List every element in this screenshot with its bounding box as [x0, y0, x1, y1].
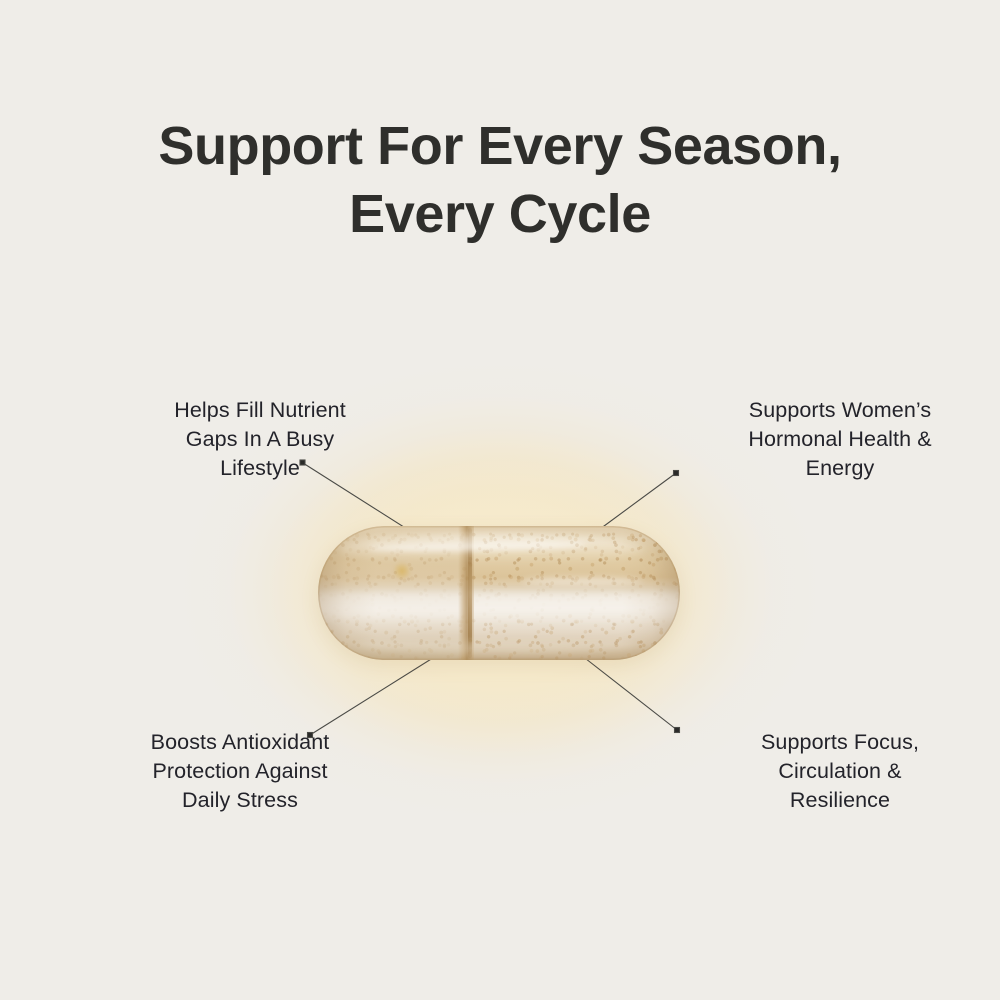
callout-top-left-line-1: Helps Fill Nutrient [60, 396, 460, 425]
callout-bottom-left-line-1: Boosts Antioxidant [40, 728, 440, 757]
callout-top-left: Helps Fill Nutrient Gaps In A Busy Lifes… [60, 396, 460, 482]
leader-line-bottom-right [581, 655, 677, 730]
leader-lines-group [0, 0, 1000, 1000]
callout-bottom-left: Boosts Antioxidant Protection Against Da… [40, 728, 440, 814]
callout-bottom-right-line-3: Resilience [640, 786, 1000, 815]
callout-top-left-line-2: Gaps In A Busy [60, 425, 460, 454]
callout-bottom-right: Supports Focus, Circulation & Resilience [640, 728, 1000, 814]
supplement-capsule [318, 526, 680, 660]
callout-bottom-right-line-1: Supports Focus, [640, 728, 1000, 757]
infographic-canvas: Support For Every Season, Every Cycle [0, 0, 1000, 1000]
capsule-rim [318, 526, 680, 660]
callout-bottom-left-line-2: Protection Against [40, 757, 440, 786]
callout-top-left-line-3: Lifestyle [60, 454, 460, 483]
leader-line-bottom-left [310, 656, 436, 735]
callout-top-right-line-3: Energy [640, 454, 1000, 483]
capsule-shell [318, 526, 680, 660]
callout-top-right: Supports Women’s Hormonal Health & Energ… [640, 396, 1000, 482]
callout-top-right-line-1: Supports Women’s [640, 396, 1000, 425]
callout-top-right-line-2: Hormonal Health & [640, 425, 1000, 454]
callout-bottom-right-line-2: Circulation & [640, 757, 1000, 786]
callout-bottom-left-line-3: Daily Stress [40, 786, 440, 815]
